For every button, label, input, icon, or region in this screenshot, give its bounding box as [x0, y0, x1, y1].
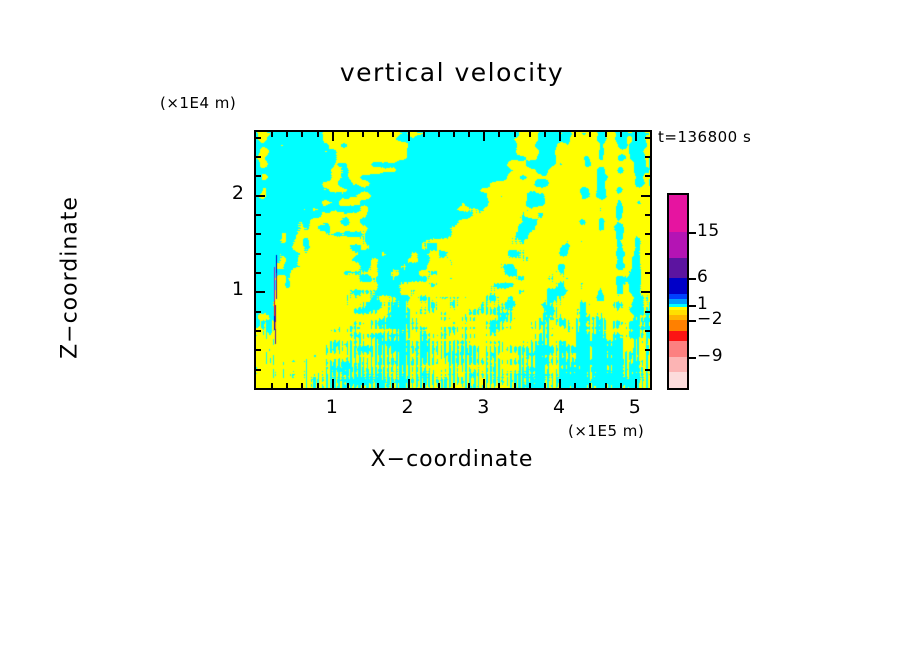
tick-mark	[438, 132, 440, 137]
tick-mark	[453, 383, 455, 388]
colorbar-segment	[669, 278, 687, 294]
tick-mark	[641, 291, 650, 293]
tick-mark	[392, 383, 394, 388]
tick-mark	[453, 132, 455, 137]
colorbar-tick-label: −9	[697, 346, 723, 366]
tick-mark	[362, 383, 364, 388]
tick-mark	[645, 137, 650, 139]
tick-mark	[559, 132, 561, 141]
tick-mark	[408, 132, 410, 141]
tick-mark	[256, 156, 261, 158]
colorbar-segment	[669, 331, 687, 341]
tick-mark	[468, 383, 470, 388]
tick-mark	[574, 132, 576, 137]
tick-mark	[635, 132, 637, 141]
x-tick-label: 2	[393, 396, 423, 418]
tick-mark	[498, 132, 500, 137]
tick-mark	[271, 132, 273, 137]
colorbar-segment	[669, 341, 687, 357]
tick-mark	[483, 379, 485, 388]
tick-mark	[468, 132, 470, 137]
contour-plot-area	[254, 130, 652, 390]
tick-mark	[256, 272, 261, 274]
x-axis-unit-label: (×1E5 m)	[568, 422, 644, 440]
colorbar-segment	[669, 320, 687, 330]
tick-mark	[256, 349, 261, 351]
y-tick-label: 1	[214, 278, 244, 300]
tick-mark	[589, 383, 591, 388]
tick-mark	[332, 132, 334, 141]
timestamp-annotation: t=136800 s	[658, 128, 751, 146]
tick-mark	[256, 369, 261, 371]
tick-mark	[347, 132, 349, 137]
colorbar-segment	[669, 195, 687, 232]
tick-mark	[559, 379, 561, 388]
tick-mark	[645, 156, 650, 158]
tick-mark	[256, 195, 265, 197]
tick-mark	[605, 383, 607, 388]
tick-mark	[645, 272, 650, 274]
tick-mark	[641, 195, 650, 197]
colorbar-tick-label: −2	[697, 309, 723, 329]
tick-mark	[438, 383, 440, 388]
tick-mark	[256, 253, 261, 255]
tick-mark	[529, 132, 531, 137]
tick-mark	[620, 383, 622, 388]
tick-mark	[256, 214, 261, 216]
colorbar-tick-label: 6	[697, 267, 708, 287]
tick-mark	[377, 383, 379, 388]
x-tick-label: 1	[317, 396, 347, 418]
x-tick-label: 4	[544, 396, 574, 418]
colorbar-tick	[689, 232, 696, 234]
tick-mark	[620, 132, 622, 137]
tick-mark	[362, 132, 364, 137]
colorbar-segment	[669, 232, 687, 258]
tick-mark	[498, 383, 500, 388]
tick-mark	[317, 132, 319, 137]
tick-mark	[286, 383, 288, 388]
tick-mark	[645, 214, 650, 216]
tick-mark	[635, 379, 637, 388]
tick-mark	[286, 132, 288, 137]
colorbar-segment	[669, 357, 687, 373]
tick-mark	[645, 369, 650, 371]
tick-mark	[256, 330, 261, 332]
tick-mark	[301, 132, 303, 137]
tick-mark	[589, 132, 591, 137]
tick-mark	[645, 330, 650, 332]
tick-mark	[332, 379, 334, 388]
x-tick-label: 5	[620, 396, 650, 418]
tick-mark	[256, 291, 265, 293]
x-axis-title: X−coordinate	[0, 447, 904, 472]
tick-mark	[544, 383, 546, 388]
colorbar-segment	[669, 372, 687, 388]
tick-mark	[544, 132, 546, 137]
tick-mark	[514, 383, 516, 388]
tick-mark	[645, 175, 650, 177]
colorbar-tick-label: 15	[697, 221, 720, 241]
colorbar-tick	[689, 278, 696, 280]
tick-mark	[408, 379, 410, 388]
colorbar-segment	[669, 258, 687, 279]
tick-mark	[574, 383, 576, 388]
tick-mark	[256, 233, 261, 235]
x-tick-label: 3	[468, 396, 498, 418]
tick-mark	[645, 311, 650, 313]
colorbar-tick	[689, 357, 696, 359]
colorbar-tick	[689, 320, 696, 322]
tick-mark	[301, 383, 303, 388]
y-axis-title: Z−coordinate	[58, 148, 83, 408]
tick-mark	[423, 383, 425, 388]
colorbar	[667, 193, 689, 390]
chart-title: vertical velocity	[0, 58, 904, 87]
colorbar-tick	[689, 305, 696, 307]
tick-mark	[256, 137, 261, 139]
y-axis-unit-label: (×1E4 m)	[160, 94, 236, 112]
tick-mark	[377, 132, 379, 137]
tick-mark	[392, 132, 394, 137]
tick-mark	[423, 132, 425, 137]
tick-mark	[256, 311, 261, 313]
tick-mark	[529, 383, 531, 388]
tick-mark	[645, 253, 650, 255]
contour-field-canvas	[256, 132, 650, 388]
tick-mark	[347, 383, 349, 388]
tick-mark	[605, 132, 607, 137]
tick-mark	[271, 383, 273, 388]
y-tick-label: 2	[214, 182, 244, 204]
tick-mark	[645, 349, 650, 351]
tick-mark	[514, 132, 516, 137]
tick-mark	[317, 383, 319, 388]
tick-mark	[256, 175, 261, 177]
tick-mark	[483, 132, 485, 141]
tick-mark	[645, 233, 650, 235]
